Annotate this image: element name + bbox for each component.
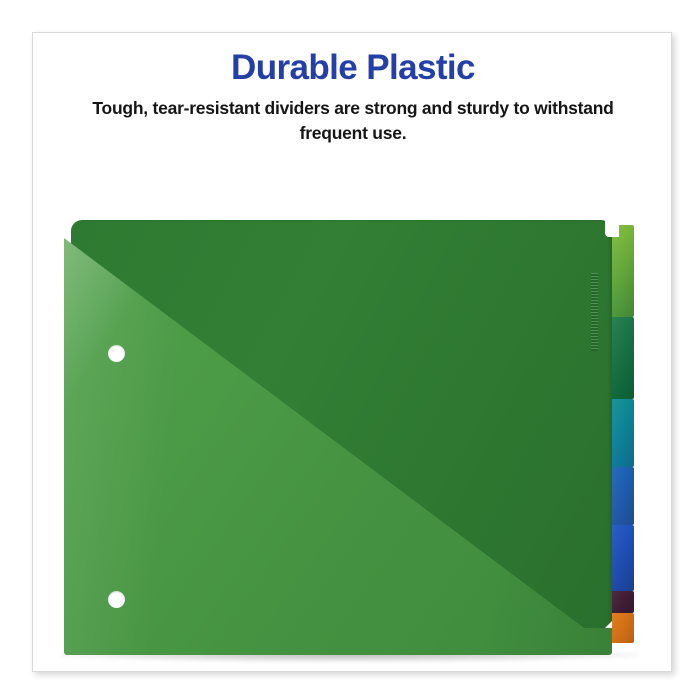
subheading-text: Tough, tear-resistant dividers are stron… bbox=[73, 96, 633, 146]
punch-hole-top bbox=[108, 345, 125, 362]
tab-notch bbox=[605, 220, 619, 237]
product-image-canvas: Durable Plastic Tough, tear-resistant di… bbox=[0, 0, 700, 700]
product-photo bbox=[33, 153, 672, 672]
product-card-frame: Durable Plastic Tough, tear-resistant di… bbox=[32, 32, 672, 672]
reinforcement-rib-strip bbox=[591, 273, 598, 351]
plastic-divider-sheet bbox=[64, 220, 612, 655]
page-title: Durable Plastic bbox=[33, 47, 672, 89]
punch-hole-bottom bbox=[108, 591, 125, 608]
headline-block: Durable Plastic Tough, tear-resistant di… bbox=[33, 47, 672, 146]
subheading-line-1: Tough, tear-resistant dividers are stron… bbox=[92, 98, 509, 118]
